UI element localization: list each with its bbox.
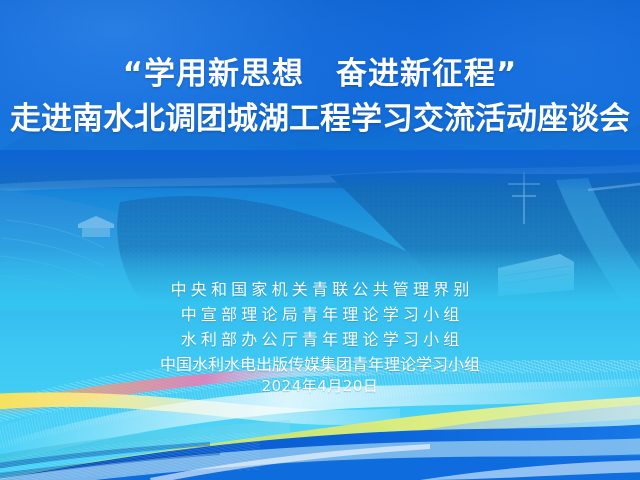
poster-banner: “学用新思想 奋进新征程” 走进南水北调团城湖工程学习交流活动座谈会 中央和国家… bbox=[0, 0, 640, 480]
title-block: “学用新思想 奋进新征程” 走进南水北调团城湖工程学习交流活动座谈会 bbox=[0, 58, 640, 135]
organization-line-2: 中宣部理论局青年理论学习小组 bbox=[0, 302, 640, 327]
organization-list: 中央和国家机关青联公共管理界别 中宣部理论局青年理论学习小组 水利部办公厅青年理… bbox=[0, 277, 640, 377]
organization-line-1: 中央和国家机关青联公共管理界别 bbox=[0, 277, 640, 302]
organization-line-4: 中国水利水电出版传媒集团青年理论学习小组 bbox=[0, 352, 640, 377]
event-date: 2024年4月20日 bbox=[0, 375, 640, 396]
photo-fade-top bbox=[0, 150, 640, 192]
title-line-1: “学用新思想 奋进新征程” bbox=[0, 58, 640, 90]
title-line-2: 走进南水北调团城湖工程学习交流活动座谈会 bbox=[0, 103, 640, 135]
organization-line-3: 水利部办公厅青年理论学习小组 bbox=[0, 327, 640, 352]
